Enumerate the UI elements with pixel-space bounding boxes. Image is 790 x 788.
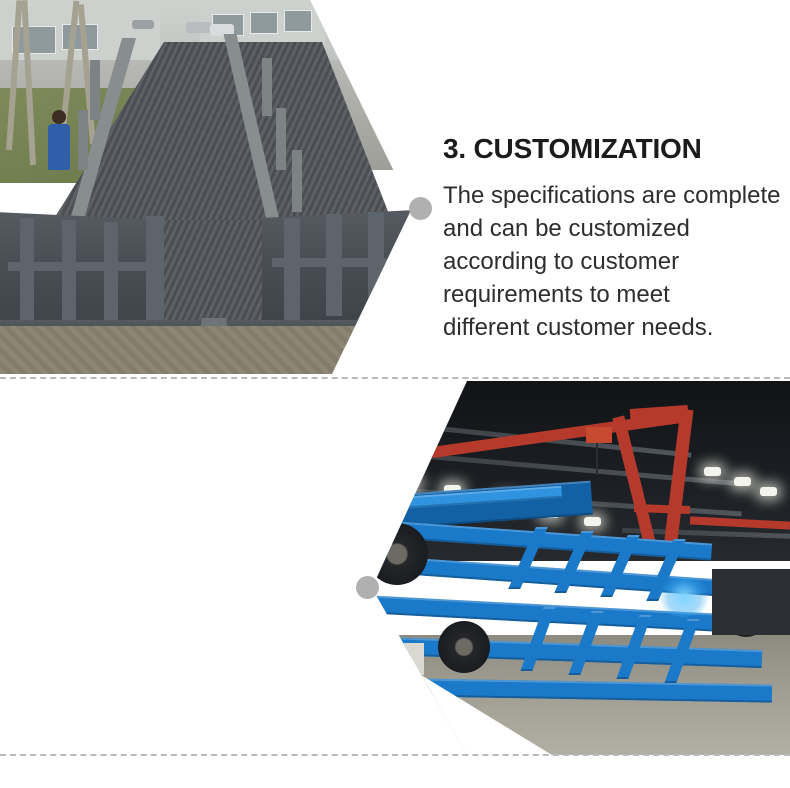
photo-ramp-rib: [104, 222, 118, 326]
photo-background-stock: [712, 569, 790, 635]
photo-ramp-rib: [146, 216, 164, 326]
connector-dot-stock: [356, 576, 379, 599]
photo-ramp-rib: [62, 220, 76, 324]
body-line: and can be customized: [443, 212, 788, 245]
section-divider-bottom: [0, 754, 790, 756]
photo-foreground-pavement: [0, 326, 412, 374]
body-line: requirements to meet: [443, 278, 788, 311]
photo-ramp-rib: [284, 218, 300, 320]
customization-heading: 3. CUSTOMIZATION: [443, 133, 788, 165]
photo-ceiling-lamp: [584, 517, 601, 526]
photo-worker-head: [52, 110, 66, 124]
photo-crane-cable: [596, 443, 598, 475]
body-line: The specifications are complete: [443, 179, 788, 212]
body-line: according to customer: [443, 245, 788, 278]
photo-ceiling-lamp: [704, 467, 721, 476]
photo-rail-post: [292, 150, 302, 212]
photo-distant-vehicle: [132, 20, 154, 29]
grey-steel-dock-ramp-photo: [0, 0, 412, 374]
photo-ceiling-lamp: [760, 487, 777, 496]
photo-ramp-tire: [438, 621, 490, 673]
photo-rail-post: [276, 108, 286, 170]
connector-dot-customization: [409, 197, 432, 220]
customization-text-block: 3. CUSTOMIZATION The specifications are …: [443, 133, 788, 344]
photo-window: [284, 10, 312, 32]
product-feature-infographic: 3. CUSTOMIZATION The specifications are …: [0, 0, 790, 788]
body-line: different customer needs.: [443, 311, 788, 344]
photo-rail-post: [78, 110, 88, 170]
photo-rail-post: [90, 60, 100, 120]
photo-ramp-crossbar: [272, 258, 408, 267]
photo-window: [250, 12, 278, 34]
section-customization: 3. CUSTOMIZATION The specifications are …: [0, 0, 790, 378]
photo-ceiling-lamp: [734, 477, 751, 486]
photo-ramp-crossbar: [8, 262, 158, 271]
photo-crane-trolley: [586, 427, 612, 443]
photo-light-flare: [654, 577, 714, 617]
photo-rail-post: [262, 58, 272, 116]
photo-distant-vehicle: [186, 22, 212, 33]
customization-body: The specifications are complete and can …: [443, 179, 788, 344]
photo-worker-body: [48, 124, 70, 170]
